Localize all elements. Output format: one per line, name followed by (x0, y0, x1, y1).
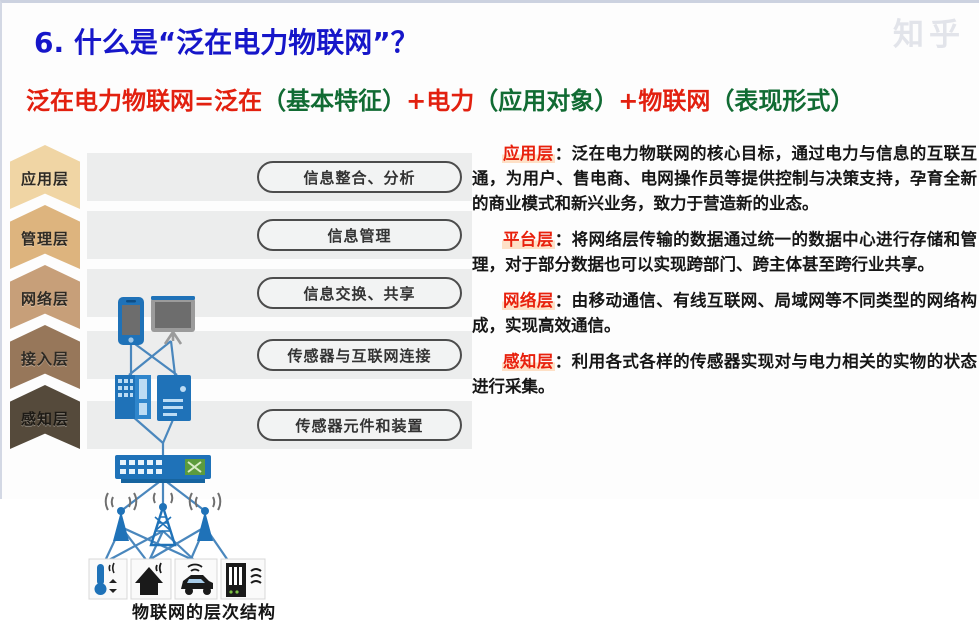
slide-canvas: 知乎 6. 什么是“泛在电力物联网”？ 泛在电力物联网=泛在（基本特征）+电力（… (0, 0, 979, 499)
note-label: 感知层 (502, 352, 555, 371)
layer-chevron-application: 应用层 (10, 145, 80, 209)
layer-chevron-label: 感知层 (21, 408, 69, 429)
formula-part-4: （应用对象） (474, 87, 618, 115)
server-tower-icon (157, 375, 191, 421)
layer-chevron-label: 网络层 (21, 288, 69, 309)
layer-chevron-label: 接入层 (21, 348, 69, 369)
layer-pill-perception: 传感器元件和装置 (257, 409, 462, 441)
notes-column: 应用层：泛在电力物联网的核心目标，通过电力与信息的互联互通，为用户、售电商、电网… (472, 141, 977, 410)
layer-chevron-label: 应用层 (21, 168, 69, 189)
layer-pill-management: 信息管理 (257, 219, 462, 251)
page-title: 6. 什么是“泛在电力物联网”？ (34, 21, 419, 61)
layer-pill-network: 信息交换、共享 (257, 277, 462, 309)
formula-part-5: +物联网 (618, 87, 710, 115)
home-sensor-icon (131, 559, 171, 599)
cabinet-sensor-icon (221, 559, 265, 599)
formula-part-1: 泛在电力物联网=泛在 (26, 87, 262, 115)
diagram-caption: 物联网的层次结构 (132, 598, 276, 623)
layer-pill-application: 信息整合、分析 (257, 161, 462, 193)
layer-chevron-access: 接入层 (10, 325, 80, 389)
iot-icon-artwork (87, 283, 267, 603)
thermometer-sensor-icon (89, 559, 127, 599)
monitor-icon (151, 296, 195, 344)
note-paragraph-application: 应用层：泛在电力物联网的核心目标，通过电力与信息的互联互通，为用户、售电商、电网… (472, 141, 977, 216)
network-switch-icon (115, 455, 211, 483)
antenna-left-icon (106, 493, 137, 541)
note-label: 应用层 (502, 144, 555, 163)
vehicle-sensor-icon (175, 559, 217, 599)
note-paragraph-perception: 感知层：利用各式各样的传感器实现对与电力相关的实物的状态进行采集。 (472, 349, 977, 399)
note-colon: ： (555, 144, 572, 163)
server-rack-icon (115, 375, 151, 419)
layer-chevron-network: 网络层 (10, 265, 80, 329)
layer-chevron-perception: 感知层 (10, 385, 80, 449)
zhihu-watermark: 知乎 (893, 9, 965, 54)
note-paragraph-platform: 平台层：将网络层传输的数据通过统一的数据中心进行存储和管理，对于部分数据也可以实… (472, 227, 977, 277)
layer-pill-access: 传感器与互联网连接 (257, 339, 462, 371)
formula-part-6: （表现形式） (710, 87, 854, 115)
note-colon: ： (555, 230, 572, 249)
layer-chevron-management: 管理层 (10, 205, 80, 269)
note-colon: ： (555, 352, 572, 371)
layer-chevron-label: 管理层 (21, 228, 69, 249)
note-colon: ： (555, 291, 572, 310)
formula-part-3: +电力 (406, 87, 474, 115)
formula-line: 泛在电力物联网=泛在（基本特征）+电力（应用对象）+物联网（表现形式） (26, 81, 854, 116)
iot-layer-diagram: 应用层 管理层 网络层 接入层 感知层 信息整合、分析 信息管理 信息交换、共享… (2, 143, 480, 502)
formula-part-2: （基本特征） (262, 87, 406, 115)
smartphone-icon (118, 297, 144, 345)
note-paragraph-network: 网络层：由移动通信、有线互联网、局域网等不同类型的网络构成，实现高效通信。 (472, 288, 977, 338)
note-label: 网络层 (502, 291, 555, 310)
note-label: 平台层 (502, 230, 555, 249)
